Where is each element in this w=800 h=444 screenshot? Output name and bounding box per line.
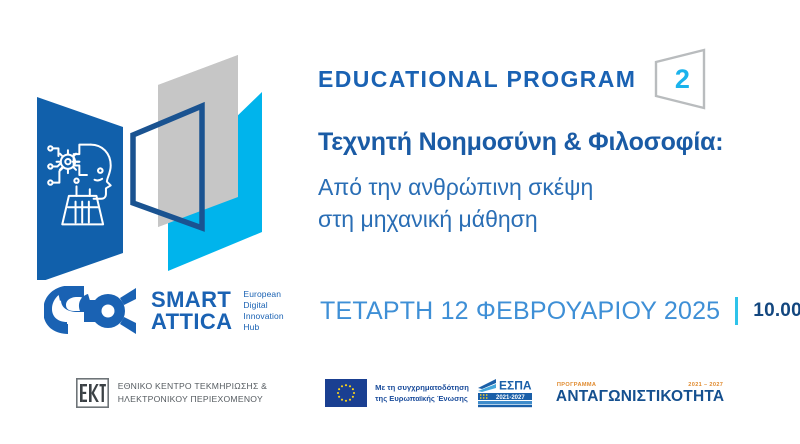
antagonistikotita-name: ΑΝΤΑΓΩΝΙΣΤΙΚΟΤΗΤΑ: [556, 389, 724, 405]
smart-attica-wordmark: SMART ATTICA: [151, 289, 232, 334]
layered-panels-graphic: [30, 40, 310, 280]
eyebrow-label: EDUCATIONAL PROGRAM: [318, 68, 636, 91]
date-time-row: ΤΕΤΑΡΤΗ 12 ΦΕΒΡΟΥΑΡΙΟΥ 2025 10.00-11.30: [320, 294, 800, 328]
header-row: EDUCATIONAL PROGRAM 2: [318, 48, 712, 110]
eu-flag-icon: [325, 379, 367, 407]
footer-logos: ΕΘΝΙΚΟ ΚΕΝΤΡΟ ΤΕΚΜΗΡΙΩΣΗΣ & ΗΛΕΚΤΡΟΝΙΚΟΥ…: [0, 368, 800, 418]
ekt-logo: ΕΘΝΙΚΟ ΚΕΝΤΡΟ ΤΕΚΜΗΡΙΩΣΗΣ & ΗΛΕΚΤΡΟΝΙΚΟΥ…: [76, 378, 267, 408]
ekt-line-2: ΗΛΕΚΤΡΟΝΙΚΟΥ ΠΕΡΙΕΧΟΜΕΝΟΥ: [118, 393, 267, 406]
page-subtitle: Από την ανθρώπινη σκέψη στη μηχανική μάθ…: [318, 172, 593, 235]
smart-attica-word-line-2: ATTICA: [151, 311, 232, 333]
event-poster: EDUCATIONAL PROGRAM 2 Τεχνητή Νοημοσύνη …: [0, 0, 800, 444]
ekt-wordmark: ΕΘΝΙΚΟ ΚΕΝΤΡΟ ΤΕΚΜΗΡΙΩΣΗΣ & ΗΛΕΚΤΡΟΝΙΚΟΥ…: [118, 380, 267, 406]
antagonistikotita-logo: ΠΡΟΓΡΑΜΜΑ 2021 – 2027 ΑΝΤΑΓΩΝΙΣΤΙΚΟΤΗΤΑ: [556, 382, 724, 405]
espa-logo-icon: ΕΣΠΑ 2021-2027: [476, 377, 534, 409]
subtitle-line-1: Από την ανθρώπινη σκέψη: [318, 172, 593, 204]
smart-attica-logo: SMART ATTICA European Digital Innovation…: [44, 286, 284, 336]
event-date: ΤΕΤΑΡΤΗ 12 ΦΕΒΡΟΥΑΡΙΟΥ 2025: [320, 297, 720, 326]
tagline-line-1: European: [243, 289, 283, 300]
badge-number-label: 2: [650, 48, 712, 110]
eu-cofunding-logo: Με τη συγχρηματοδότηση της Ευρωπαϊκής Έν…: [325, 379, 469, 407]
tagline-line-3: Innovation: [243, 311, 283, 322]
page-title: Τεχνητή Νοημοσύνη & Φιλοσοφία:: [318, 128, 723, 157]
panel-gray-overlap-shape: [158, 55, 238, 227]
espa-logo: ΕΣΠΑ 2021-2027: [476, 377, 534, 409]
antagonistikotita-years: 2021 – 2027: [688, 382, 723, 388]
event-time: 10.00-11.30: [753, 300, 800, 322]
espa-years-text: 2021-2027: [496, 395, 525, 401]
eu-text-line-2: της Ευρωπαϊκής Ένωσης: [375, 393, 469, 404]
subtitle-line-2: στη μηχανική μάθηση: [318, 204, 593, 236]
smart-attica-mark-icon: [44, 286, 140, 336]
panel-blue-shape: [37, 97, 123, 280]
smart-attica-word-line-1: SMART: [151, 289, 232, 311]
tagline-line-2: Digital: [243, 300, 283, 311]
eu-cofunding-text: Με τη συγχρηματοδότηση της Ευρωπαϊκής Έν…: [375, 382, 469, 405]
date-time-divider: [735, 297, 738, 325]
eu-text-line-1: Με τη συγχρηματοδότηση: [375, 382, 469, 393]
smart-attica-tagline: European Digital Innovation Hub: [243, 289, 283, 334]
antagonistikotita-meta: ΠΡΟΓΡΑΜΜΑ 2021 – 2027: [556, 382, 724, 388]
antagonistikotita-kicker: ΠΡΟΓΡΑΜΜΑ: [557, 382, 596, 388]
ekt-line-1: ΕΘΝΙΚΟ ΚΕΝΤΡΟ ΤΕΚΜΗΡΙΩΣΗΣ &: [118, 380, 267, 393]
hero-artwork: [30, 40, 310, 280]
tagline-line-4: Hub: [243, 322, 283, 333]
program-number-badge: 2: [650, 48, 712, 110]
espa-name-text: ΕΣΠΑ: [499, 379, 532, 393]
ekt-logo-icon: [76, 378, 109, 408]
